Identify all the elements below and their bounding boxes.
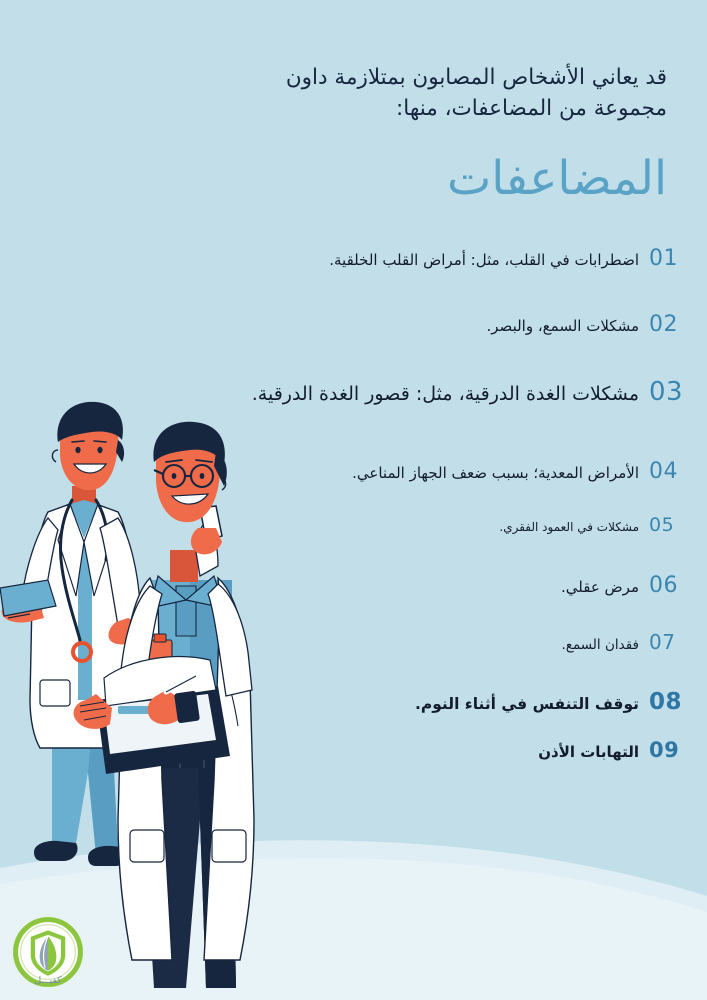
page-title: المضاعفات [37, 148, 667, 210]
logo-brand-text: كفيـــل [34, 975, 62, 986]
list-item: 04 الأمراض المعدية؛ بسبب ضعف الجهاز المن… [0, 459, 707, 484]
list-item-text: مشكلات الغدة الدرقية، مثل: قصور الغدة ال… [0, 383, 639, 405]
list-item-number: 02 [639, 312, 707, 337]
list-item-number: 09 [639, 738, 707, 762]
header-block: قد يعاني الأشخاص المصابون بمتلازمة داون … [37, 62, 667, 124]
ground-wave-back [0, 840, 707, 1000]
infographic-poster: قد يعاني الأشخاص المصابون بمتلازمة داون … [0, 0, 707, 1000]
list-item-text: التهابات الأذن [0, 743, 639, 761]
list-item: 05 مشكلات في العمود الفقري. [0, 514, 707, 536]
list-item-number: 08 [639, 689, 707, 715]
list-item: 07 فقدان السمع. [0, 630, 707, 654]
list-item-text: مرض عقلي. [0, 578, 639, 596]
list-item: 02 مشكلات السمع، والبصر. [0, 312, 707, 337]
list-item-number: 05 [639, 514, 707, 536]
list-item-text: مشكلات في العمود الفقري. [0, 520, 639, 534]
list-item-text: فقدان السمع. [0, 637, 639, 653]
list-item-number: 06 [639, 573, 707, 598]
list-item-number: 01 [639, 246, 707, 271]
list-item: 06 مرض عقلي. [0, 573, 707, 598]
kafeel-logo[interactable]: كفيـــل [12, 916, 84, 988]
list-item: 08 توقف التنفس في أثناء النوم. [0, 689, 707, 715]
header-line-2: مجموعة من المضاعفات، منها: [37, 93, 667, 124]
list-item-text: الأمراض المعدية؛ بسبب ضعف الجهاز المناعي… [0, 464, 639, 482]
list-item: 09 التهابات الأذن [0, 738, 707, 762]
header-line-1: قد يعاني الأشخاص المصابون بمتلازمة داون [37, 62, 667, 93]
list-item-text: اضطرابات في القلب، مثل: أمراض القلب الخل… [0, 251, 639, 269]
list-item: 03 مشكلات الغدة الدرقية، مثل: قصور الغدة… [0, 377, 707, 407]
list-item-number: 07 [639, 630, 707, 654]
list-item-number: 03 [639, 377, 707, 407]
list-item-text: مشكلات السمع، والبصر. [0, 317, 639, 335]
list-item-number: 04 [639, 459, 707, 484]
list-item-text: توقف التنفس في أثناء النوم. [0, 695, 639, 713]
ground-wave-front [0, 858, 707, 1000]
list-item: 01 اضطرابات في القلب، مثل: أمراض القلب ا… [0, 246, 707, 271]
